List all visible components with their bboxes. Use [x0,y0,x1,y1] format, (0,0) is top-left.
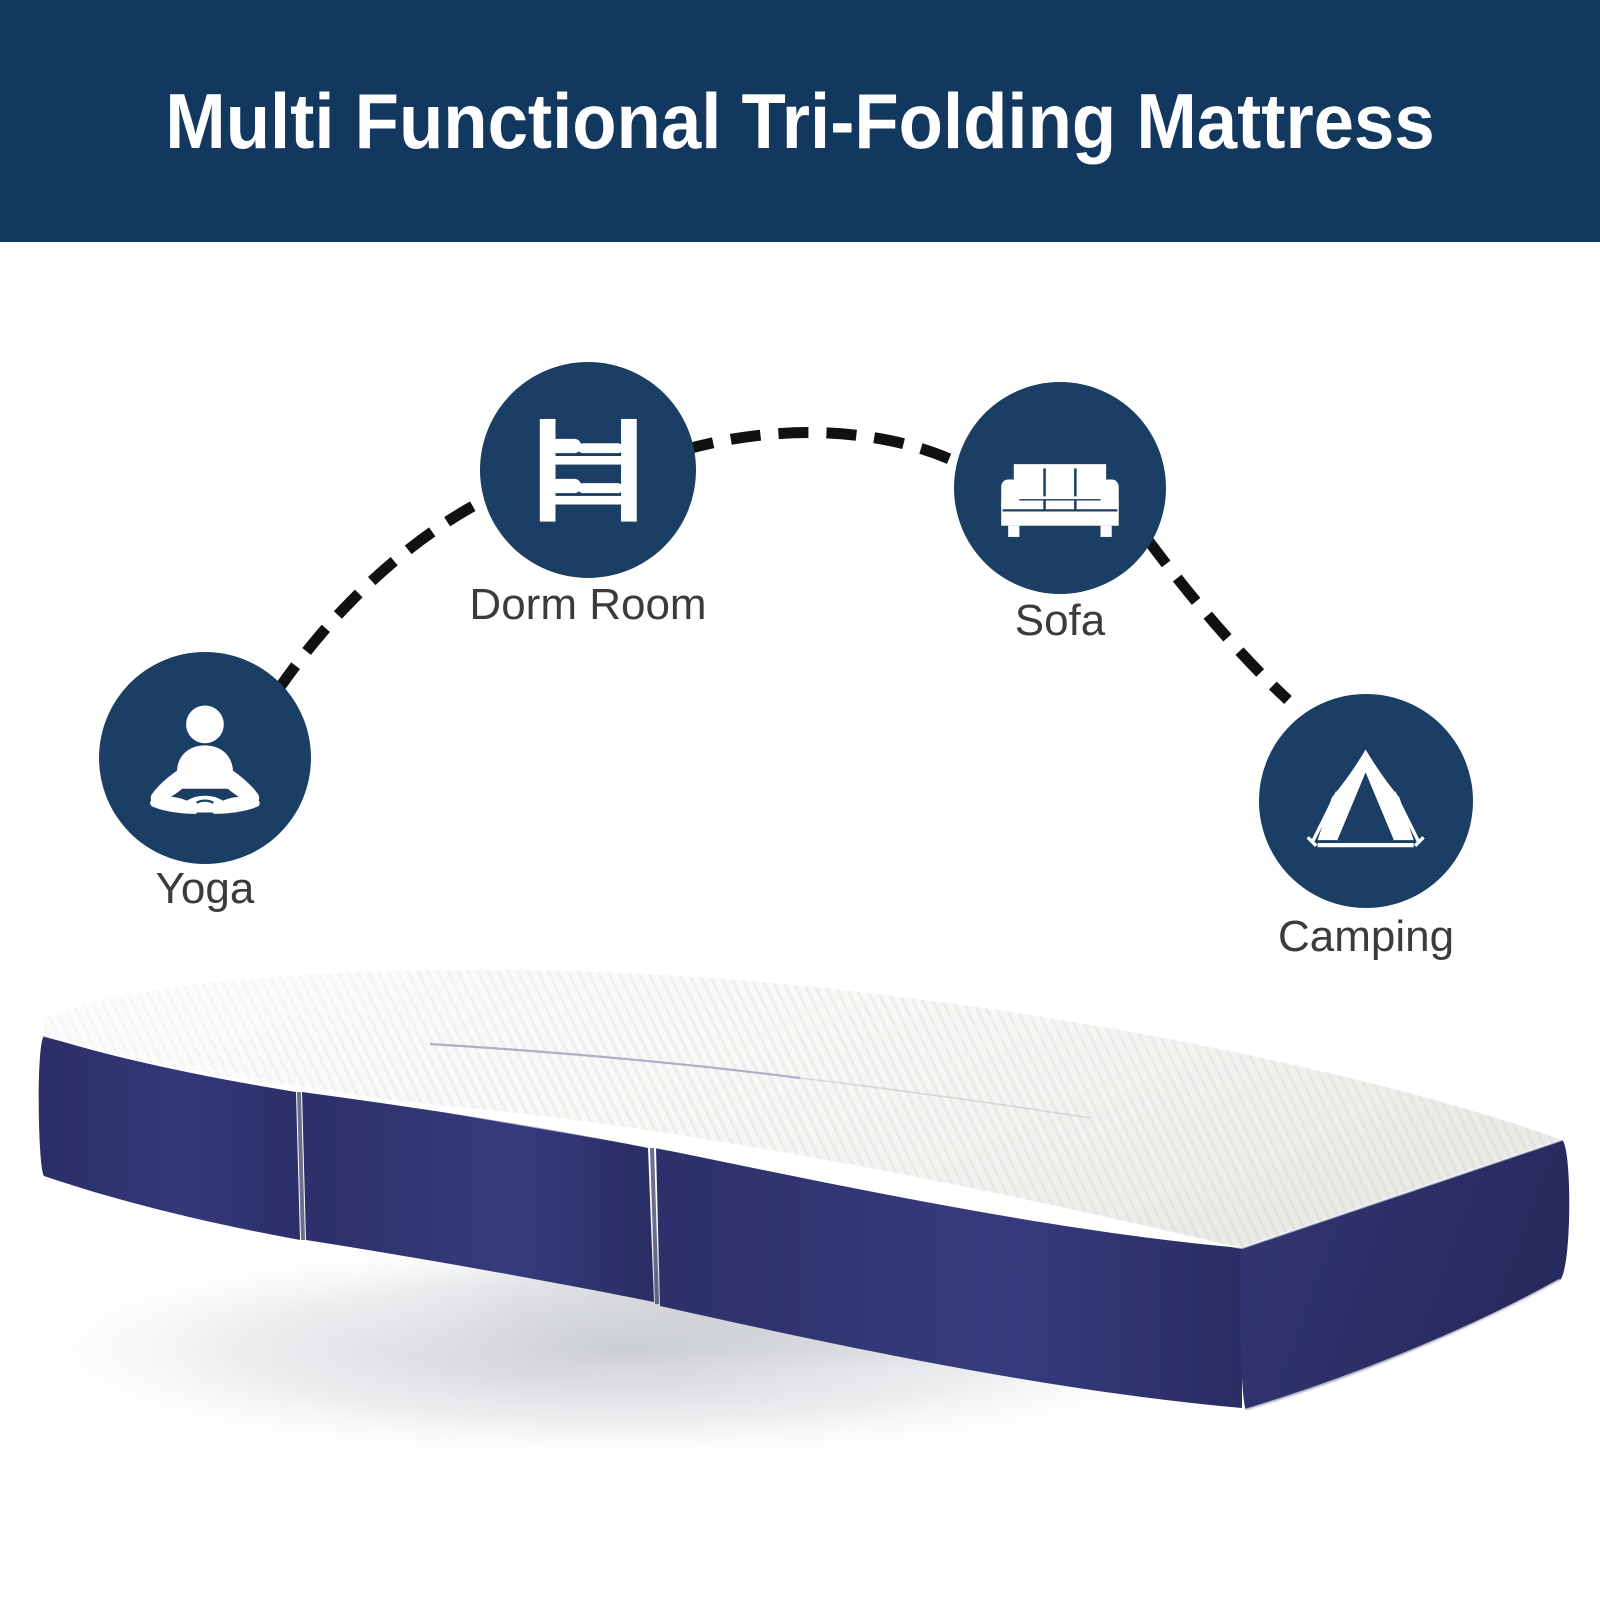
tent-icon [1295,730,1436,871]
infographic-page: Multi Functional Tri-Folding Mattress [0,0,1600,1600]
use-case-label-yoga: Yoga [59,864,351,914]
yoga-icon-circle[interactable] [99,652,311,864]
tri-folding-mattress-photo [0,940,1600,1560]
connector-dorm-sofa [684,433,972,470]
use-case-label-sofa: Sofa [894,596,1226,646]
dorm-room-icon-circle[interactable] [480,362,696,578]
yoga-lotus-icon [135,688,275,828]
sofa-icon [990,418,1130,558]
use-case-label-dorm-room: Dorm Room [420,580,756,630]
sofa-icon-circle[interactable] [954,382,1166,594]
camping-icon-circle[interactable] [1259,694,1473,908]
bunk-bed-icon [517,399,660,542]
mattress-panel-seam-1 [299,1092,303,1240]
